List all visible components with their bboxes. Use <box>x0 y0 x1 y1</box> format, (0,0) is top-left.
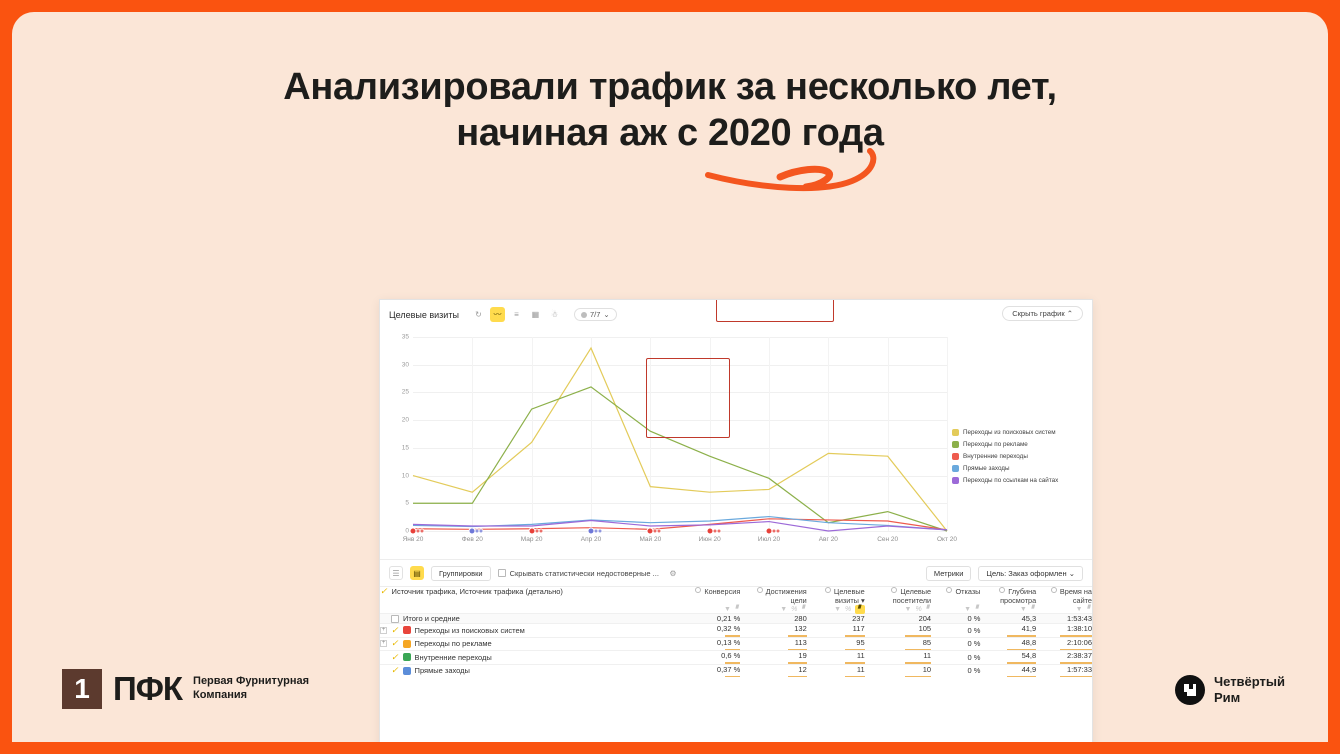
legend-item[interactable]: Внутренние переходы <box>952 453 1084 460</box>
cell-value: 54,8 <box>980 651 1036 660</box>
cell-value: 0,32 % <box>672 624 741 633</box>
cell-value: 48,8 <box>980 638 1036 647</box>
cell-value: 12 <box>740 665 806 674</box>
cell-value: 105 <box>865 624 931 633</box>
legend-item[interactable]: Переходы из поисковых систем <box>952 429 1084 436</box>
radio-icon <box>999 587 1005 593</box>
expand-icon[interactable]: + <box>380 627 387 634</box>
chart-event-marker[interactable] <box>479 529 484 534</box>
percent-icon[interactable]: % <box>915 606 921 613</box>
source-favicon-icon <box>403 653 411 661</box>
chevron-down-icon: ⌄ <box>603 310 609 319</box>
radio-icon <box>1051 587 1057 593</box>
checkbox-icon[interactable]: ✓ <box>380 587 388 596</box>
cell-value: 85 <box>865 638 931 647</box>
cell-value: 0,6 % <box>672 651 741 660</box>
value-bar <box>725 676 740 678</box>
filter-icon[interactable]: ▼ <box>905 606 912 613</box>
chart-toggle-icon[interactable]: ▘ <box>1031 606 1036 613</box>
cell-value: 41,9 <box>980 624 1036 633</box>
column-header[interactable]: Глубина просмотра <box>980 587 1036 605</box>
line-chart-icon[interactable]: 〰 <box>490 307 505 322</box>
percent-icon[interactable]: % <box>791 606 797 613</box>
filter-icon[interactable]: ▼ <box>780 606 787 613</box>
chart-toggle-icon[interactable]: ▘ <box>975 606 980 613</box>
table-row[interactable]: +✓Переходы по рекламе0,13 %11395850 %48,… <box>380 637 1092 651</box>
cell-value: 45,3 <box>980 614 1036 623</box>
table-row[interactable]: +✓Переходы из поисковых систем0,32 %1321… <box>380 624 1092 638</box>
y-axis-tick: 10 <box>402 472 409 479</box>
cell-value: 132 <box>740 624 806 633</box>
person-icon[interactable]: ☃ <box>547 307 562 322</box>
segments-badge[interactable]: 7/7 ⌄ <box>574 308 617 321</box>
sort-indicator-icon: ▾ <box>861 596 865 605</box>
y-axis-tick: 35 <box>402 334 409 341</box>
y-axis-tick: 20 <box>402 417 409 424</box>
list-view-icon[interactable]: ☰ <box>389 566 403 580</box>
pfk-subtitle-line-2: Компания <box>193 689 309 703</box>
row-checkbox-icon[interactable]: ✓ <box>391 639 399 648</box>
metrika-dashboard: Целевые визиты ↻ 〰 ≡ ▦ ☃ 7/7 ⌄ Скрыть гр… <box>379 299 1093 742</box>
dashboard-header: Целевые визиты ↻ 〰 ≡ ▦ ☃ 7/7 ⌄ Скрыть гр… <box>380 300 1092 329</box>
hide-chart-label: Скрыть график <box>1012 309 1064 318</box>
rim-word-line-2: Рим <box>1214 690 1285 706</box>
value-bar <box>1060 676 1092 678</box>
rim-word-line-1: Четвёртый <box>1214 674 1285 690</box>
percent-icon[interactable]: % <box>845 606 851 613</box>
y-axis-tick: 5 <box>405 500 409 507</box>
column-header[interactable]: Достижения цели <box>740 587 806 605</box>
cell-value: 117 <box>807 624 865 633</box>
row-label: Внутренние переходы <box>415 653 492 662</box>
source-column-header: Источник трафика, Источник трафика (дета… <box>392 587 563 596</box>
x-axis-tick: Июн 20 <box>699 536 721 543</box>
legend-item[interactable]: Переходы по ссылкам на сайтах <box>952 477 1084 484</box>
chart-event-marker[interactable] <box>538 529 543 534</box>
refresh-icon[interactable]: ↻ <box>471 307 486 322</box>
cell-value: 237 <box>807 614 865 623</box>
value-bar <box>788 676 807 678</box>
hide-unreliable-checkbox[interactable]: Скрывать статистически недостоверные ... <box>498 569 659 578</box>
row-checkbox-icon[interactable] <box>391 615 399 623</box>
chart-toggle-icon[interactable]: ▘ <box>1087 606 1092 613</box>
cell-value: 0 % <box>931 639 980 648</box>
table-filter-row: ▼▘▼%▘▼%▘▼%▘▼▘▼▘▼▘ <box>380 605 1092 614</box>
cell-value: 11 <box>807 665 865 674</box>
groupings-button[interactable]: Группировки <box>431 566 491 581</box>
table-toolbar: ☰ ▤ Группировки Скрывать статистически н… <box>380 559 1092 586</box>
legend-swatch-icon <box>952 441 959 448</box>
source-favicon-icon <box>403 667 411 675</box>
hide-chart-button[interactable]: Скрыть график ⌃ <box>1002 306 1083 321</box>
column-chart-icon[interactable]: ▦ <box>528 307 543 322</box>
cell-value: 11 <box>865 651 931 660</box>
row-label: Переходы из поисковых систем <box>415 626 525 635</box>
column-header[interactable]: Отказы <box>931 587 980 596</box>
chart-lines <box>413 337 947 531</box>
x-axis-tick: Янв 20 <box>403 536 424 543</box>
cell-value: 0,37 % <box>672 665 741 674</box>
cell-value: 1:57:33 <box>1036 665 1092 674</box>
column-header[interactable]: Целевые посетители <box>865 587 931 605</box>
grid-line-vertical <box>947 337 948 531</box>
table-body: ✓Источник трафика, Источник трафика (дет… <box>380 587 1092 678</box>
cell-value: 0,21 % <box>672 614 741 623</box>
y-axis-tick: 25 <box>402 389 409 396</box>
chart-toggle-icon[interactable]: ▘ <box>855 605 864 614</box>
radio-icon <box>825 587 831 593</box>
chart-legend: Переходы из поисковых системПереходы по … <box>952 429 1084 489</box>
value-bar <box>845 676 865 678</box>
table-row[interactable]: Итого и средние0,21 %2802372040 %45,31:5… <box>380 614 1092 624</box>
y-axis-tick: 15 <box>402 444 409 451</box>
value-bar <box>905 676 932 678</box>
cell-value: 44,9 <box>980 665 1036 674</box>
chart-toggle-icon[interactable]: ▘ <box>801 606 806 613</box>
chart-line-переходы-из-поисковых-систем <box>413 348 947 531</box>
goal-selector[interactable]: Цель: Заказ оформлен ⌄ <box>978 566 1083 581</box>
chart-event-marker[interactable] <box>776 529 781 534</box>
headline-line-1: Анализировали трафик за несколько лет, <box>12 64 1328 110</box>
cell-value: 0,13 % <box>672 638 741 647</box>
cell-value: 2:38:37 <box>1036 651 1092 660</box>
legend-label: Переходы из поисковых систем <box>963 429 1056 436</box>
cell-value: 0 % <box>931 614 980 623</box>
chevron-down-icon: ⌄ <box>1069 569 1075 578</box>
chart-plot: 05101520253035Янв 20Фев 20Мар 20Апр 20Ма… <box>413 337 947 531</box>
chart-title: Целевые визиты <box>389 310 459 320</box>
legend-swatch-icon <box>952 477 959 484</box>
legend-label: Переходы по рекламе <box>963 441 1028 448</box>
cell-value: 11 <box>807 651 865 660</box>
logo-chetverty-rim: Четвёртый Рим <box>1175 674 1285 707</box>
chart-event-marker[interactable] <box>657 529 662 534</box>
row-label: Итого и средние <box>403 614 460 623</box>
chart-line-переходы-по-рекламе <box>413 387 947 531</box>
x-axis-tick: Апр 20 <box>581 536 602 543</box>
row-label: Переходы по рекламе <box>415 639 492 648</box>
legend-item[interactable]: Переходы по рекламе <box>952 441 1084 448</box>
cell-value: 1:53:43 <box>1036 614 1092 623</box>
segments-count: 7/7 <box>590 310 600 319</box>
cell-value: 10 <box>865 665 931 674</box>
cell-value: 2:10:06 <box>1036 638 1092 647</box>
column-header[interactable]: Целевые визиты ▾ <box>807 587 865 605</box>
chart-event-marker[interactable] <box>420 529 425 534</box>
x-axis-tick: Июл 20 <box>758 536 780 543</box>
checkbox-icon <box>498 569 506 577</box>
radio-icon <box>891 587 897 593</box>
pfk-mark: 1 <box>62 669 102 709</box>
chevron-up-icon: ⌃ <box>1067 309 1073 318</box>
table-row[interactable]: ✓Внутренние переходы0,6 %1911110 %54,82:… <box>380 651 1092 665</box>
x-axis-tick: Фев 20 <box>462 536 483 543</box>
x-axis-tick: Авг 20 <box>819 536 838 543</box>
traffic-table: ✓Источник трафика, Источник трафика (дет… <box>380 586 1092 677</box>
underline-swoosh-icon <box>702 145 912 195</box>
pfk-subtitle-line-1: Первая Фурнитурная <box>193 675 309 689</box>
x-axis-tick: Мар 20 <box>521 536 543 543</box>
y-axis-tick: 30 <box>402 361 409 368</box>
cell-value: 0 % <box>931 626 980 635</box>
row-checkbox-icon[interactable]: ✓ <box>391 666 399 675</box>
radio-icon <box>757 587 763 593</box>
legend-swatch-icon <box>952 453 959 460</box>
filter-icon[interactable]: ▼ <box>964 606 971 613</box>
goal-selector-label: Цель: Заказ оформлен <box>986 569 1066 578</box>
radio-icon <box>946 587 952 593</box>
pfk-subtitle: Первая Фурнитурная Компания <box>193 675 309 703</box>
tree-view-icon[interactable]: ▤ <box>410 566 424 580</box>
y-axis-tick: 0 <box>405 528 409 535</box>
legend-swatch-icon <box>952 429 959 436</box>
radio-icon <box>695 587 701 593</box>
filter-icon[interactable]: ▼ <box>1076 606 1083 613</box>
cell-value: 1:38:10 <box>1036 624 1092 633</box>
pfk-wordmark: ПФК <box>113 670 182 708</box>
source-favicon-icon <box>403 626 411 634</box>
x-axis-tick: Окт 20 <box>937 536 957 543</box>
x-axis-tick: Май 20 <box>639 536 661 543</box>
chart-area: 05101520253035Янв 20Фев 20Мар 20Апр 20Ма… <box>380 329 1092 559</box>
cell-value: 19 <box>740 651 806 660</box>
cell-value: 0 % <box>931 653 980 662</box>
chart-toggle-icon[interactable]: ▘ <box>735 606 740 613</box>
expand-icon[interactable]: + <box>380 640 387 647</box>
cell-value: 113 <box>740 638 806 647</box>
metrics-button[interactable]: Метрики <box>926 566 972 581</box>
legend-label: Прямые заходы <box>963 465 1010 472</box>
logo-pfk: 1 ПФК Первая Фурнитурная Компания <box>62 669 309 709</box>
legend-swatch-icon <box>952 465 959 472</box>
row-label: Прямые заходы <box>415 666 470 675</box>
x-axis-tick: Сен 20 <box>877 536 898 543</box>
cell-value: 280 <box>740 614 806 623</box>
column-header[interactable]: Конверсия <box>672 587 741 596</box>
cell-value: 0 % <box>931 666 980 675</box>
hide-unreliable-label: Скрывать статистически недостоверные ... <box>510 569 659 578</box>
cell-value: 95 <box>807 638 865 647</box>
chart-toggle-icon[interactable]: ▘ <box>926 606 931 613</box>
legend-label: Переходы по ссылкам на сайтах <box>963 477 1058 484</box>
cell-value: 204 <box>865 614 931 623</box>
legend-item[interactable]: Прямые заходы <box>952 465 1084 472</box>
slide-canvas: Анализировали трафик за несколько лет, н… <box>12 12 1328 742</box>
gear-icon[interactable]: ⚙ <box>666 566 680 580</box>
chart-event-marker[interactable] <box>598 529 603 534</box>
rim-mark-icon <box>1175 675 1205 705</box>
filter-icon[interactable]: ▼ <box>724 606 731 613</box>
grid-line <box>413 531 947 532</box>
rim-wordmark: Четвёртый Рим <box>1214 674 1285 707</box>
table-row[interactable]: ✓Прямые заходы0,37 %1211100 %44,91:57:33 <box>380 664 1092 677</box>
filter-icon[interactable]: ▼ <box>1020 606 1027 613</box>
row-checkbox-icon[interactable]: ✓ <box>391 653 399 662</box>
headline-line-2: начиная аж с 2020 года <box>12 110 1328 156</box>
source-favicon-icon <box>403 640 411 648</box>
column-header[interactable]: Время на сайте <box>1036 587 1092 605</box>
badge-dot-icon <box>581 312 587 318</box>
page-title: Анализировали трафик за несколько лет, н… <box>12 64 1328 157</box>
chart-event-marker[interactable] <box>716 529 721 534</box>
stacked-bar-icon[interactable]: ≡ <box>509 307 524 322</box>
value-bar <box>1007 676 1036 678</box>
filter-icon[interactable]: ▼ <box>834 606 841 613</box>
row-checkbox-icon[interactable]: ✓ <box>391 626 399 635</box>
table-header-row: ✓Источник трафика, Источник трафика (дет… <box>380 587 1092 606</box>
legend-label: Внутренние переходы <box>963 453 1028 460</box>
